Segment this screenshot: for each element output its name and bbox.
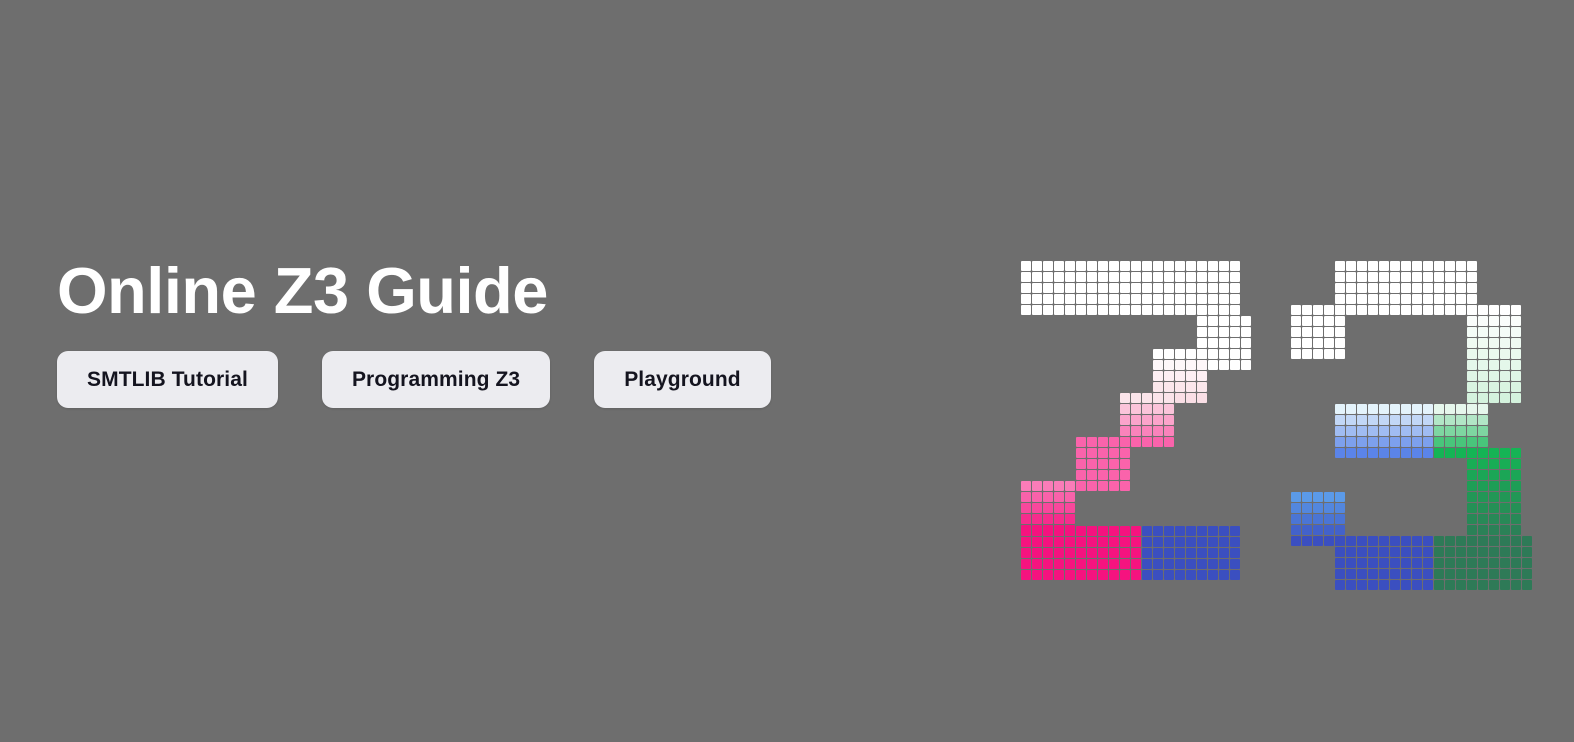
logo-pixel-cell [1500,470,1510,480]
logo-pixel-cell [1230,349,1240,359]
logo-pixel-cell [1379,437,1389,447]
logo-pixel-cell [1478,492,1488,502]
logo-pixel-cell [1197,360,1207,370]
logo-pixel-cell [1489,547,1499,557]
logo-pixel-cell [1142,426,1152,436]
logo-pixel-cell [1412,426,1422,436]
logo-pixel-cell [1076,559,1086,569]
logo-pixel-cell [1131,426,1141,436]
logo-pixel-cell [1291,503,1301,513]
logo-pixel-cell [1401,283,1411,293]
logo-pixel-cell [1335,514,1345,524]
logo-pixel-cell [1522,580,1532,590]
logo-pixel-cell [1368,415,1378,425]
logo-pixel-cell [1445,580,1455,590]
logo-pixel-cell [1076,448,1086,458]
logo-pixel-cell [1423,283,1433,293]
logo-pixel-cell [1142,570,1152,580]
logo-pixel-cell [1219,272,1229,282]
logo-pixel-cell [1467,426,1477,436]
logo-pixel-cell [1043,559,1053,569]
logo-pixel-cell [1511,492,1521,502]
logo-pixel-cell [1054,548,1064,558]
logo-pixel-cell [1324,514,1334,524]
logo-pixel-cell [1098,470,1108,480]
logo-pixel-cell [1456,426,1466,436]
logo-pixel-cell [1456,305,1466,315]
logo-pixel-cell [1197,349,1207,359]
logo-pixel-cell [1478,382,1488,392]
logo-pixel-cell [1324,316,1334,326]
smtlib-tutorial-button[interactable]: SMTLIB Tutorial [57,351,278,408]
logo-pixel-cell [1197,537,1207,547]
logo-pixel-cell [1401,569,1411,579]
logo-pixel-cell [1175,294,1185,304]
logo-pixel-cell [1065,261,1075,271]
logo-pixel-cell [1357,404,1367,414]
logo-pixel-cell [1324,338,1334,348]
logo-pixel-cell [1412,404,1422,414]
logo-pixel-cell [1346,404,1356,414]
logo-pixel-cell [1346,580,1356,590]
logo-pixel-cell [1467,382,1477,392]
logo-pixel-cell [1153,393,1163,403]
logo-pixel-cell [1291,492,1301,502]
logo-pixel-cell [1390,448,1400,458]
logo-pixel-cell [1478,448,1488,458]
logo-pixel-cell [1120,537,1130,547]
logo-pixel-cell [1175,371,1185,381]
logo-pixel-cell [1131,526,1141,536]
logo-pixel-cell [1153,305,1163,315]
logo-pixel-cell [1467,404,1477,414]
logo-pixel-cell [1467,569,1477,579]
logo-pixel-cell [1208,294,1218,304]
logo-pixel-cell [1219,570,1229,580]
logo-pixel-cell [1197,526,1207,536]
logo-pixel-cell [1489,580,1499,590]
logo-pixel-cell [1131,415,1141,425]
logo-pixel-cell [1087,283,1097,293]
logo-pixel-cell [1087,548,1097,558]
logo-pixel-cell [1164,393,1174,403]
logo-pixel-cell [1489,349,1499,359]
logo-pixel-cell [1120,526,1130,536]
logo-pixel-cell [1467,272,1477,282]
logo-pixel-cell [1379,569,1389,579]
logo-pixel-cell [1120,283,1130,293]
logo-pixel-cell [1230,526,1240,536]
logo-pixel-cell [1302,525,1312,535]
logo-pixel-cell [1489,514,1499,524]
logo-pixel-cell [1324,525,1334,535]
logo-pixel-cell [1043,537,1053,547]
logo-pixel-cell [1098,272,1108,282]
logo-pixel-cell [1357,437,1367,447]
logo-pixel-cell [1153,437,1163,447]
logo-pixel-cell [1021,526,1031,536]
logo-pixel-cell [1208,548,1218,558]
logo-pixel-cell [1131,283,1141,293]
logo-pixel-cell [1390,426,1400,436]
logo-pixel-cell [1109,261,1119,271]
logo-pixel-cell [1522,547,1532,557]
logo-pixel-cell [1324,536,1334,546]
logo-pixel-cell [1120,393,1130,403]
logo-pixel-cell [1219,338,1229,348]
logo-pixel-cell [1412,283,1422,293]
logo-pixel-cell [1197,570,1207,580]
logo-pixel-cell [1478,316,1488,326]
logo-pixel-cell [1467,547,1477,557]
logo-pixel-cell [1219,559,1229,569]
logo-pixel-cell [1197,548,1207,558]
logo-pixel-cell [1131,548,1141,558]
programming-z3-button[interactable]: Programming Z3 [322,351,550,408]
logo-pixel-cell [1489,360,1499,370]
logo-pixel-cell [1109,548,1119,558]
logo-pixel-cell [1164,570,1174,580]
logo-pixel-cell [1511,459,1521,469]
logo-pixel-cell [1032,526,1042,536]
logo-pixel-cell [1302,514,1312,524]
logo-pixel-cell [1478,558,1488,568]
logo-pixel-cell [1109,448,1119,458]
logo-pixel-cell [1500,569,1510,579]
logo-pixel-cell [1500,547,1510,557]
logo-pixel-block [1434,536,1532,590]
logo-pixel-cell [1489,327,1499,337]
logo-pixel-cell [1197,559,1207,569]
logo-pixel-cell [1197,283,1207,293]
logo-pixel-cell [1324,349,1334,359]
logo-pixel-cell [1511,382,1521,392]
logo-pixel-cell [1313,316,1323,326]
logo-pixel-cell [1445,448,1455,458]
logo-pixel-cell [1098,459,1108,469]
logo-pixel-cell [1511,569,1521,579]
logo-pixel-cell [1120,404,1130,414]
logo-pixel-cell [1456,580,1466,590]
logo-pixel-cell [1087,559,1097,569]
logo-pixel-cell [1335,415,1345,425]
logo-pixel-cell [1324,503,1334,513]
logo-pixel-cell [1164,426,1174,436]
logo-pixel-cell [1032,537,1042,547]
logo-pixel-cell [1109,294,1119,304]
logo-pixel-cell [1153,371,1163,381]
logo-pixel-cell [1153,537,1163,547]
logo-pixel-cell [1153,559,1163,569]
logo-pixel-cell [1478,349,1488,359]
logo-pixel-cell [1021,272,1031,282]
logo-pixel-cell [1054,261,1064,271]
logo-pixel-cell [1346,272,1356,282]
logo-pixel-cell [1445,404,1455,414]
logo-pixel-cell [1401,448,1411,458]
logo-pixel-cell [1390,415,1400,425]
logo-pixel-cell [1208,283,1218,293]
logo-pixel-cell [1142,526,1152,536]
logo-pixel-cell [1500,360,1510,370]
logo-pixel-cell [1489,558,1499,568]
logo-pixel-cell [1043,261,1053,271]
logo-pixel-cell [1219,548,1229,558]
logo-pixel-cell [1241,349,1251,359]
logo-pixel-block [1142,526,1240,580]
logo-pixel-cell [1412,448,1422,458]
logo-pixel-cell [1175,548,1185,558]
logo-pixel-cell [1412,261,1422,271]
logo-pixel-cell [1423,272,1433,282]
logo-pixel-cell [1346,261,1356,271]
logo-pixel-cell [1489,305,1499,315]
logo-pixel-cell [1478,371,1488,381]
logo-pixel-cell [1098,526,1108,536]
logo-pixel-cell [1368,536,1378,546]
logo-pixel-cell [1357,283,1367,293]
logo-pixel-cell [1412,415,1422,425]
logo-pixel-cell [1164,272,1174,282]
logo-pixel-cell [1511,536,1521,546]
logo-pixel-cell [1032,261,1042,271]
logo-pixel-cell [1500,305,1510,315]
logo-pixel-cell [1098,305,1108,315]
logo-pixel-cell [1175,393,1185,403]
logo-pixel-cell [1230,570,1240,580]
logo-pixel-cell [1098,570,1108,580]
logo-pixel-cell [1467,514,1477,524]
logo-pixel-cell [1467,470,1477,480]
logo-pixel-cell [1186,261,1196,271]
logo-pixel-cell [1098,437,1108,447]
logo-pixel-cell [1186,305,1196,315]
logo-pixel-cell [1368,283,1378,293]
logo-pixel-cell [1164,404,1174,414]
page-title: Online Z3 Guide [57,258,977,323]
logo-pixel-cell [1456,536,1466,546]
logo-pixel-cell [1368,547,1378,557]
logo-pixel-cell [1335,261,1345,271]
logo-pixel-cell [1478,459,1488,469]
logo-pixel-cell [1076,470,1086,480]
playground-button[interactable]: Playground [594,351,771,408]
logo-pixel-cell [1335,569,1345,579]
logo-pixel-cell [1197,294,1207,304]
logo-pixel-cell [1109,481,1119,491]
logo-pixel-cell [1335,580,1345,590]
logo-pixel-cell [1423,261,1433,271]
logo-pixel-cell [1208,316,1218,326]
logo-pixel-cell [1109,526,1119,536]
logo-pixel-cell [1302,503,1312,513]
logo-pixel-cell [1511,393,1521,403]
logo-pixel-cell [1032,570,1042,580]
logo-pixel-cell [1390,272,1400,282]
logo-pixel-cell [1500,327,1510,337]
logo-pixel-cell [1500,393,1510,403]
logo-pixel-cell [1186,559,1196,569]
logo-pixel-cell [1076,570,1086,580]
logo-pixel-cell [1153,261,1163,271]
logo-pixel-cell [1065,548,1075,558]
logo-pixel-cell [1456,448,1466,458]
logo-pixel-cell [1109,305,1119,315]
logo-pixel-cell [1478,569,1488,579]
logo-pixel-cell [1511,338,1521,348]
logo-pixel-cell [1153,548,1163,558]
logo-pixel-cell [1120,437,1130,447]
logo-pixel-cell [1197,382,1207,392]
logo-pixel-cell [1357,272,1367,282]
logo-pixel-cell [1065,283,1075,293]
logo-pixel-cell [1054,283,1064,293]
logo-pixel-cell [1021,514,1031,524]
logo-pixel-cell [1098,548,1108,558]
logo-pixel-cell [1302,316,1312,326]
logo-pixel-cell [1054,481,1064,491]
logo-pixel-cell [1511,514,1521,524]
logo-pixel-cell [1131,404,1141,414]
logo-pixel-cell [1456,272,1466,282]
logo-pixel-cell [1522,558,1532,568]
logo-pixel-cell [1109,459,1119,469]
logo-pixel-cell [1219,294,1229,304]
logo-pixel-cell [1467,316,1477,326]
logo-pixel-cell [1467,349,1477,359]
logo-pixel-cell [1076,481,1086,491]
logo-pixel-cell [1230,360,1240,370]
logo-pixel-cell [1120,559,1130,569]
logo-pixel-cell [1230,316,1240,326]
logo-pixel-cell [1335,327,1345,337]
logo-pixel-cell [1164,537,1174,547]
logo-pixel-cell [1186,294,1196,304]
logo-pixel-cell [1335,547,1345,557]
logo-pixel-cell [1098,261,1108,271]
logo-pixel-cell [1390,261,1400,271]
logo-pixel-cell [1302,492,1312,502]
logo-pixel-cell [1142,261,1152,271]
logo-pixel-cell [1500,580,1510,590]
logo-pixel-cell [1368,426,1378,436]
logo-pixel-cell [1434,558,1444,568]
logo-pixel-cell [1335,283,1345,293]
logo-pixel-cell [1302,536,1312,546]
logo-pixel-cell [1390,283,1400,293]
logo-pixel-cell [1467,415,1477,425]
logo-pixel-cell [1445,426,1455,436]
logo-pixel-cell [1186,537,1196,547]
logo-pixel-cell [1390,558,1400,568]
logo-pixel-cell [1368,448,1378,458]
logo-pixel-cell [1208,360,1218,370]
logo-pixel-cell [1043,570,1053,580]
logo-pixel-cell [1423,415,1433,425]
logo-pixel-cell [1412,294,1422,304]
logo-pixel-cell [1087,261,1097,271]
logo-pixel-cell [1208,526,1218,536]
logo-pixel-cell [1467,305,1477,315]
logo-pixel-cell [1412,569,1422,579]
logo-pixel-cell [1109,283,1119,293]
logo-pixel-cell [1478,481,1488,491]
logo-pixel-cell [1390,305,1400,315]
logo-pixel-cell [1368,437,1378,447]
logo-pixel-cell [1368,569,1378,579]
logo-pixel-cell [1291,305,1301,315]
logo-pixel-cell [1500,492,1510,502]
logo-pixel-cell [1412,536,1422,546]
logo-pixel-cell [1324,327,1334,337]
logo-pixel-cell [1032,548,1042,558]
logo-pixel-cell [1065,514,1075,524]
logo-pixel-cell [1142,537,1152,547]
logo-pixel-cell [1109,437,1119,447]
logo-pixel-cell [1401,272,1411,282]
logo-pixel-cell [1423,426,1433,436]
logo-pixel-cell [1021,537,1031,547]
logo-pixel-cell [1500,525,1510,535]
logo-pixel-cell [1324,492,1334,502]
logo-pixel-cell [1120,481,1130,491]
logo-pixel-cell [1467,360,1477,370]
logo-pixel-cell [1313,349,1323,359]
logo-pixel-cell [1511,305,1521,315]
logo-pixel-cell [1291,349,1301,359]
logo-pixel-cell [1412,547,1422,557]
logo-pixel-cell [1142,559,1152,569]
logo-pixel-cell [1087,305,1097,315]
logo-pixel-cell [1131,305,1141,315]
logo-pixel-cell [1467,481,1477,491]
logo-pixel-cell [1164,415,1174,425]
hero-text-block: Online Z3 Guide SMTLIB Tutorial Programm… [57,258,977,408]
logo-pixel-cell [1313,536,1323,546]
logo-pixel-cell [1065,503,1075,513]
logo-pixel-cell [1467,437,1477,447]
logo-pixel-cell [1467,459,1477,469]
logo-pixel-cell [1164,283,1174,293]
logo-pixel-cell [1065,559,1075,569]
logo-pixel-cell [1313,503,1323,513]
logo-pixel-cell [1313,492,1323,502]
logo-pixel-cell [1186,272,1196,282]
logo-pixel-block [1291,305,1345,359]
logo-pixel-cell [1357,558,1367,568]
logo-pixel-cell [1230,548,1240,558]
logo-pixel-cell [1324,305,1334,315]
logo-pixel-cell [1379,261,1389,271]
logo-pixel-cell [1197,316,1207,326]
logo-pixel-cell [1219,283,1229,293]
logo-pixel-cell [1445,294,1455,304]
logo-pixel-cell [1511,316,1521,326]
logo-pixel-cell [1379,547,1389,557]
logo-pixel-cell [1390,580,1400,590]
logo-pixel-cell [1379,415,1389,425]
logo-pixel-cell [1511,503,1521,513]
logo-pixel-cell [1456,415,1466,425]
logo-pixel-cell [1368,261,1378,271]
logo-pixel-cell [1412,305,1422,315]
logo-pixel-cell [1467,294,1477,304]
logo-pixel-cell [1241,360,1251,370]
logo-pixel-cell [1401,580,1411,590]
logo-pixel-cell [1456,294,1466,304]
hero-section: Online Z3 Guide SMTLIB Tutorial Programm… [0,0,1574,742]
logo-pixel-cell [1434,426,1444,436]
